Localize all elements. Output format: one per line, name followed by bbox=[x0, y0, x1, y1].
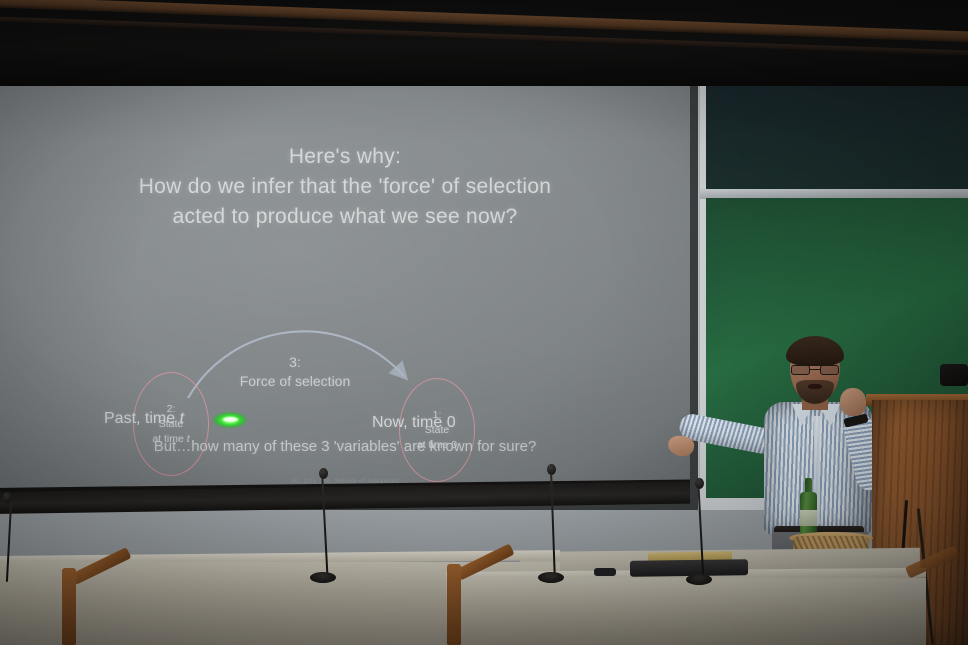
presenter-right-hand bbox=[840, 388, 866, 416]
bottle-label bbox=[800, 510, 817, 526]
desk-small-device[interactable] bbox=[594, 568, 616, 576]
desk-wood-leg-left bbox=[62, 568, 76, 645]
glasses-bridge bbox=[810, 369, 820, 370]
lecture-hall-scene: Here's why: How do we infer that the 'fo… bbox=[0, 0, 968, 645]
caption-now: Now, time 0 bbox=[372, 414, 456, 432]
caption-past-text: Past, time bbox=[104, 410, 180, 427]
chalkboard-upper-panel bbox=[706, 82, 968, 190]
slide-title-line-3: acted to produce what we see now? bbox=[0, 202, 690, 232]
caption-past: Past, time t bbox=[104, 410, 184, 428]
slide-title-line-1: Here's why: bbox=[0, 142, 690, 172]
slide-content: Here's why: How do we infer that the 'fo… bbox=[0, 70, 690, 500]
desk-wood-leg-center bbox=[447, 564, 461, 645]
slide-title: Here's why: How do we infer that the 'fo… bbox=[0, 142, 690, 232]
microphone-4-base bbox=[686, 574, 712, 585]
wall-speaker bbox=[940, 364, 968, 386]
microphone-4-head bbox=[695, 478, 704, 489]
slide-bottom-question: But…how many of these 3 'variables' are … bbox=[0, 438, 690, 455]
glasses-icon bbox=[791, 365, 839, 375]
selection-diagram: 3: Force of selection 2: State at time t… bbox=[0, 248, 690, 428]
force-of-selection-label: 3: Force of selection bbox=[205, 353, 385, 391]
force-label-text: Force of selection bbox=[240, 373, 351, 389]
ceiling bbox=[0, 0, 968, 86]
glasses-lens-left bbox=[791, 365, 810, 375]
microphone-2-base bbox=[310, 572, 336, 583]
caption-past-variable: t bbox=[180, 410, 184, 427]
laser-pointer-core bbox=[223, 417, 238, 422]
glasses-lens-right bbox=[820, 365, 839, 375]
presenter-mouth bbox=[808, 384, 822, 389]
slide-title-line-2: How do we infer that the 'force' of sele… bbox=[0, 172, 690, 202]
desk-front bbox=[446, 578, 926, 645]
presenter-hair bbox=[786, 336, 844, 366]
force-label-number: 3: bbox=[205, 353, 385, 372]
desk-tray-device[interactable] bbox=[630, 559, 748, 577]
microphone-3-base bbox=[538, 572, 564, 583]
projection-screen: Here's why: How do we infer that the 'fo… bbox=[0, 70, 690, 500]
microphone-2-head bbox=[319, 468, 328, 479]
